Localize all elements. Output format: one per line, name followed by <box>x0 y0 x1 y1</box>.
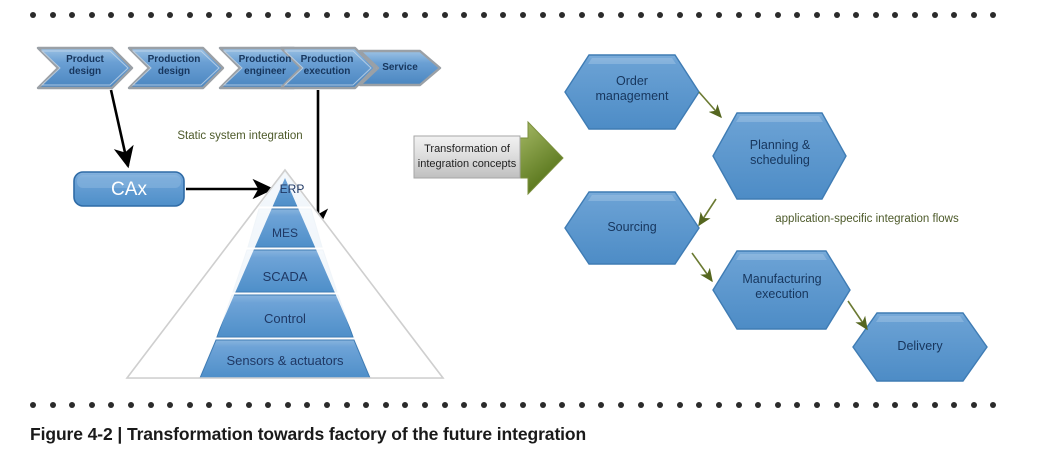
rule-dot <box>246 402 252 408</box>
rule-dot <box>696 402 702 408</box>
rule-dot <box>402 402 408 408</box>
arrow-product-design-to-cax <box>111 90 128 166</box>
rule-dot <box>69 402 75 408</box>
figure-container: Product design Production design Product… <box>0 0 1038 459</box>
rule-dot <box>89 402 95 408</box>
rule-dot <box>736 402 742 408</box>
cax-box[interactable] <box>74 172 184 206</box>
rule-dot <box>128 402 134 408</box>
rule-dot <box>853 402 859 408</box>
rule-dot <box>383 402 389 408</box>
rule-dot <box>814 402 820 408</box>
rule-dot <box>108 402 114 408</box>
rule-dot <box>579 402 585 408</box>
hexagon-sourcing[interactable] <box>565 192 699 264</box>
rule-dot <box>30 402 36 408</box>
rule-dot <box>187 402 193 408</box>
rule-dot <box>618 402 624 408</box>
rule-dot <box>775 402 781 408</box>
rule-dot <box>442 402 448 408</box>
rule-dot <box>50 402 56 408</box>
hexagon-manufacturing-execution[interactable] <box>713 251 850 329</box>
chevron-product-design[interactable] <box>38 48 132 88</box>
transformation-label-box <box>414 136 520 178</box>
rule-dot <box>540 402 546 408</box>
rule-dot <box>834 402 840 408</box>
figure-caption: Figure 4-2 | Transformation towards fact… <box>30 424 1010 445</box>
rule-dot <box>912 402 918 408</box>
rule-dot <box>265 402 271 408</box>
rule-dot <box>990 402 996 408</box>
lifecycle-chevron-row <box>38 48 440 88</box>
rule-dot <box>677 402 683 408</box>
hexagon-delivery[interactable] <box>853 313 987 381</box>
arrow-sourcing-to-manufacturing <box>692 253 712 281</box>
rule-dot <box>206 402 212 408</box>
rule-dot <box>461 402 467 408</box>
diagram-artwork <box>0 0 1038 400</box>
rule-dot <box>500 402 506 408</box>
rule-dot <box>598 402 604 408</box>
rule-dot <box>422 402 428 408</box>
rule-dot <box>304 402 310 408</box>
rule-dot <box>148 402 154 408</box>
arrow-manufacturing-to-delivery <box>848 301 867 329</box>
dotted-rule-bottom <box>30 402 1006 409</box>
pyramid-layer-control[interactable] <box>217 295 353 337</box>
hexagon-order-management[interactable] <box>565 55 699 129</box>
rule-dot <box>755 402 761 408</box>
rule-dot <box>363 402 369 408</box>
rule-dot <box>344 402 350 408</box>
rule-dot <box>932 402 938 408</box>
rule-dot <box>481 402 487 408</box>
rule-dot <box>716 402 722 408</box>
rule-dot <box>657 402 663 408</box>
chevron-production-design[interactable] <box>129 48 223 88</box>
rule-dot <box>971 402 977 408</box>
rule-dot <box>638 402 644 408</box>
rule-dot <box>951 402 957 408</box>
rule-dot <box>794 402 800 408</box>
rule-dot <box>520 402 526 408</box>
rule-dot <box>559 402 565 408</box>
arrow-planning-to-sourcing <box>699 199 716 225</box>
rule-dot <box>324 402 330 408</box>
rule-dot <box>226 402 232 408</box>
arrow-order-to-planning <box>699 92 721 117</box>
rule-dot <box>285 402 291 408</box>
hexagon-planning-scheduling[interactable] <box>713 113 846 199</box>
rule-dot <box>873 402 879 408</box>
pyramid-layer-sensors[interactable] <box>200 340 370 378</box>
rule-dot <box>167 402 173 408</box>
rule-dot <box>892 402 898 408</box>
